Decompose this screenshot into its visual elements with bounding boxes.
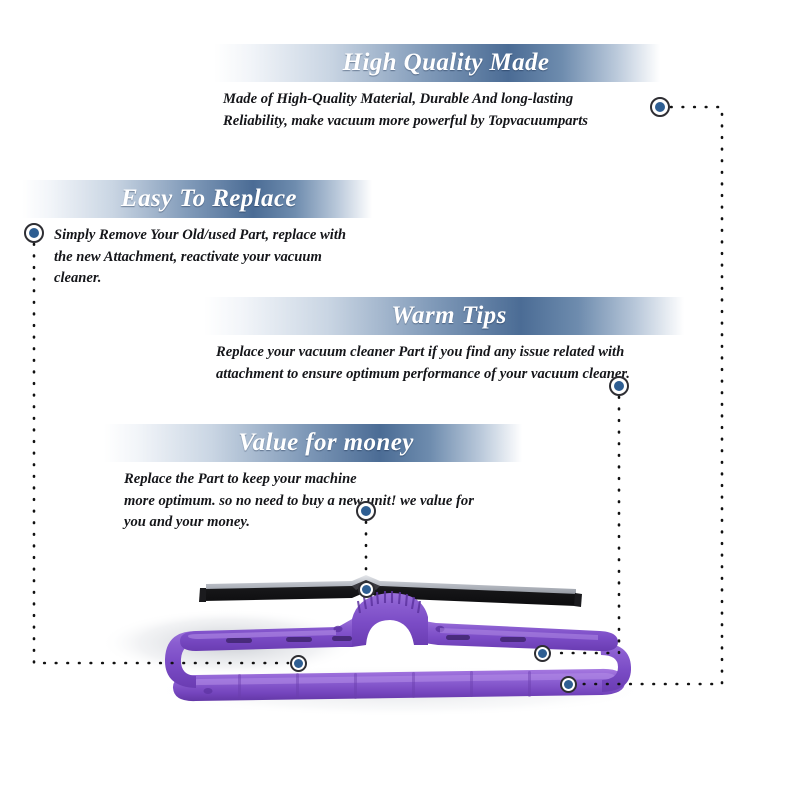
node-handle-right: [560, 676, 577, 693]
node-tips: [609, 376, 629, 396]
feature-banner: Warm Tips: [204, 297, 684, 335]
node-quality: [650, 97, 670, 117]
feature-body: Made of High-Quality Material, Durable A…: [223, 89, 660, 132]
node-value: [356, 501, 376, 521]
feature-banner: High Quality Made: [214, 44, 660, 82]
node-replace: [24, 223, 44, 243]
feature-block-value-for-money: Value for money Replace the Part to keep…: [104, 424, 522, 534]
feature-block-high-quality-made: High Quality Made Made of High-Quality M…: [214, 44, 660, 132]
node-blade-center: [358, 581, 375, 598]
product-photo: [0, 555, 800, 735]
feature-title: Warm Tips: [381, 302, 506, 329]
feature-title: Value for money: [212, 429, 413, 456]
feature-banner: Value for money: [104, 424, 522, 462]
feature-block-easy-to-replace: Easy To Replace Simply Remove Your Old/u…: [22, 180, 372, 290]
feature-body: Simply Remove Your Old/used Part, replac…: [54, 225, 372, 290]
feature-title: High Quality Made: [325, 49, 550, 76]
infographic-page: High Quality Made Made of High-Quality M…: [0, 0, 800, 800]
node-body-right: [534, 645, 551, 662]
node-body-left: [290, 655, 307, 672]
feature-banner: Easy To Replace: [22, 180, 372, 218]
feature-title: Easy To Replace: [97, 185, 297, 212]
feature-body: Replace the Part to keep your machine mo…: [124, 469, 522, 534]
feature-block-warm-tips: Warm Tips Replace your vacuum cleaner Pa…: [204, 297, 684, 385]
